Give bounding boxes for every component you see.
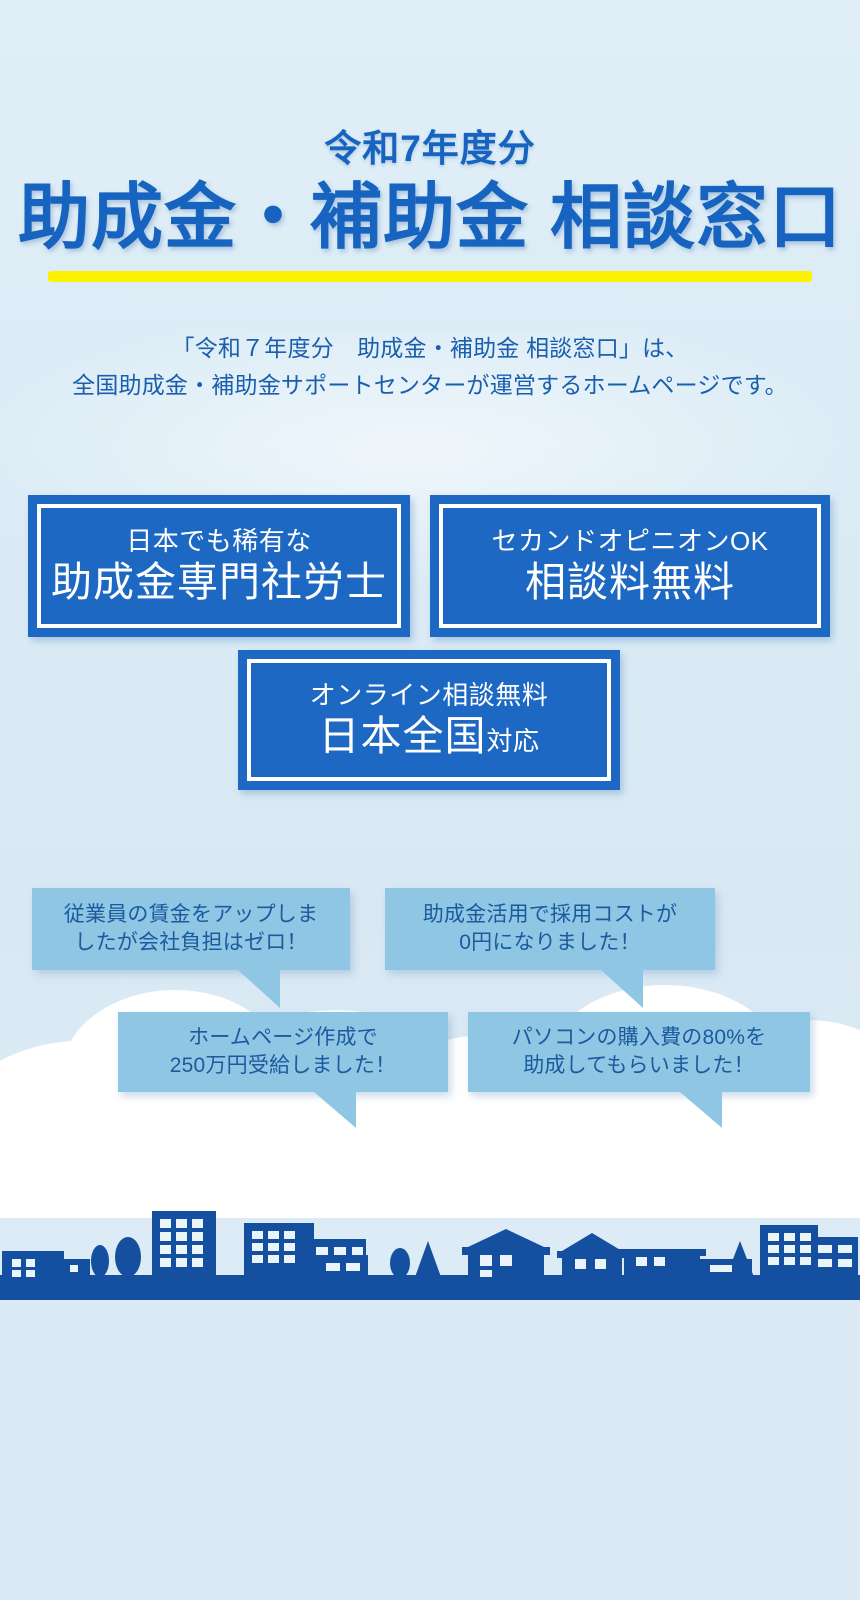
testimonial-text: パソコンの購入費の80%を 助成してもらいました！	[512, 1024, 767, 1081]
badge-frame: 日本でも稀有な 助成金専門社労士	[37, 504, 401, 628]
testimonial-line-1: パソコンの購入費の80%を	[512, 1024, 767, 1052]
badge-top-line: 日本でも稀有な	[126, 528, 312, 555]
testimonial-bubble: パソコンの購入費の80%を 助成してもらいました！	[468, 1012, 810, 1092]
bottom-spacer	[0, 1300, 860, 1600]
intro-paragraph: 「令和７年度分 助成金・補助金 相談窓口」は、 全国助成金・補助金サポートセンタ…	[0, 330, 860, 405]
badge-top-line: オンライン相談無料	[310, 682, 549, 709]
era-label: 令和7年度分	[0, 118, 860, 172]
testimonial-line-2: したが会社負担はゼロ！	[64, 929, 318, 957]
testimonial-bubble: 助成金活用で採用コストが 0円になりました！	[385, 888, 715, 970]
testimonial-text: ホームページ作成で 250万円受給しました！	[170, 1024, 396, 1081]
landing-page: 令和7年度分 助成金・補助金 相談窓口 「令和７年度分 助成金・補助金 相談窓口…	[0, 0, 860, 1600]
testimonial-bubble: 従業員の賃金をアップしま したが会社負担はゼロ！	[32, 888, 350, 970]
badge-main-line: 相談料無料	[525, 561, 735, 604]
testimonial-text: 従業員の賃金をアップしま したが会社負担はゼロ！	[64, 901, 318, 958]
city-skyline-illustration	[0, 1175, 860, 1300]
testimonial-text: 助成金活用で採用コストが 0円になりました！	[423, 901, 677, 958]
page-title: 助成金・補助金 相談窓口	[0, 182, 860, 254]
badge-specialist: 日本でも稀有な 助成金専門社労士	[28, 495, 410, 637]
testimonial-line-2: 0円になりました！	[423, 929, 677, 957]
testimonial-bubble: ホームページ作成で 250万円受給しました！	[118, 1012, 448, 1092]
bubble-tail	[680, 1092, 722, 1128]
intro-line-2: 全国助成金・補助金サポートセンターが運営するホームページです。	[0, 367, 860, 404]
testimonial-line-2: 250万円受給しました！	[170, 1052, 396, 1080]
badge-main-text: 日本全国	[318, 713, 486, 759]
badge-nationwide: オンライン相談無料 日本全国対応	[238, 650, 620, 790]
title-underline	[48, 271, 812, 282]
badge-free-consultation: セカンドオピニオンOK 相談料無料	[430, 495, 830, 637]
badge-frame: オンライン相談無料 日本全国対応	[247, 659, 611, 781]
bubble-tail	[314, 1092, 356, 1128]
testimonial-line-2: 助成してもらいました！	[512, 1052, 767, 1080]
badge-main-line: 助成金専門社労士	[51, 561, 387, 604]
badge-top-line: セカンドオピニオンOK	[491, 528, 768, 555]
badge-main-line: 日本全国対応	[318, 715, 539, 758]
badge-suffix: 対応	[486, 726, 539, 756]
bubble-tail	[601, 970, 643, 1008]
bubble-tail	[238, 970, 280, 1008]
testimonial-line-1: 従業員の賃金をアップしま	[64, 901, 318, 929]
testimonial-line-1: 助成金活用で採用コストが	[423, 901, 677, 929]
testimonial-line-1: ホームページ作成で	[170, 1024, 396, 1052]
intro-line-1: 「令和７年度分 助成金・補助金 相談窓口」は、	[0, 330, 860, 367]
badge-frame: セカンドオピニオンOK 相談料無料	[439, 504, 821, 628]
